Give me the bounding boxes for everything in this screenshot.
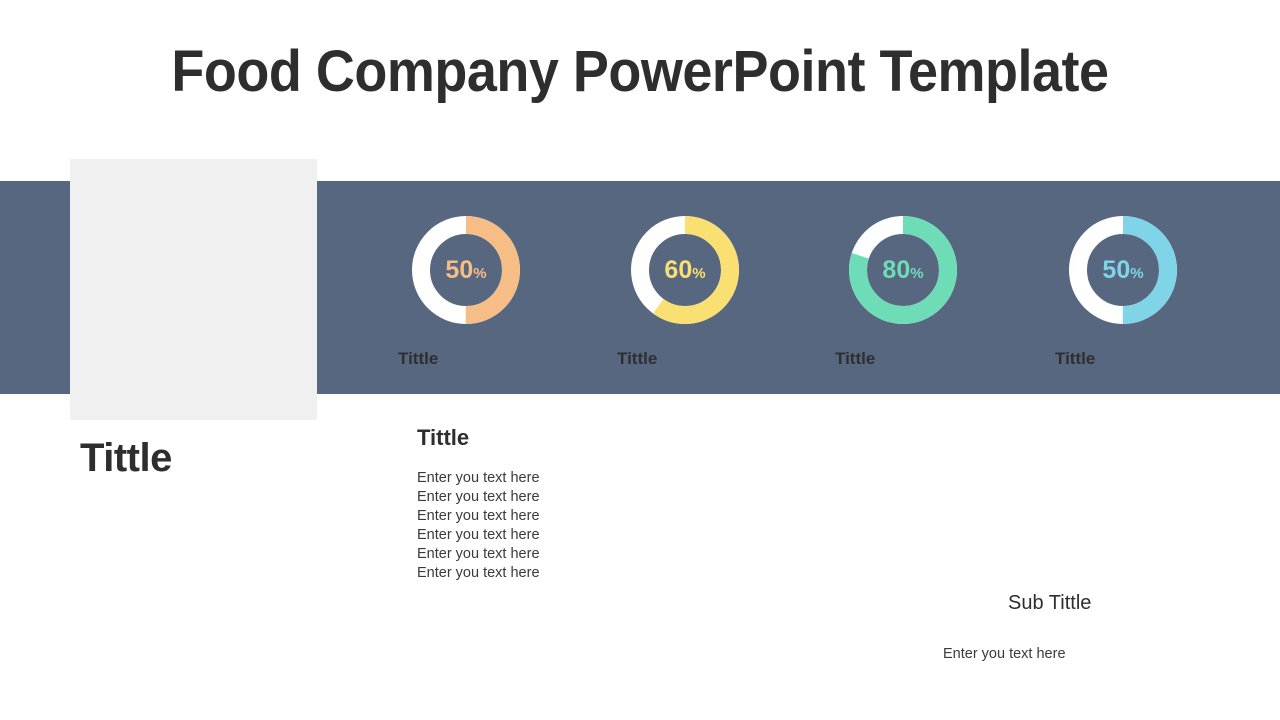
donut-hole xyxy=(430,234,502,306)
donut-hole xyxy=(1087,234,1159,306)
body-text-line: Enter you text here xyxy=(417,488,540,507)
sub-title-text: Enter you text here xyxy=(943,646,1066,662)
body-text-line: Enter you text here xyxy=(417,507,540,526)
body-section-title: Tittle xyxy=(417,425,469,451)
slide-canvas: Food Company PowerPoint Template Tittle … xyxy=(0,0,1280,720)
image-placeholder[interactable] xyxy=(70,159,317,420)
body-text-line: Enter you text here xyxy=(417,545,540,564)
donut-hole xyxy=(649,234,721,306)
sub-title: Sub Tittle xyxy=(1008,592,1091,615)
body-text-line: Enter you text here xyxy=(417,469,540,488)
donut-caption: Tittle xyxy=(398,349,438,369)
page-title: Food Company PowerPoint Template xyxy=(45,38,1235,105)
donut-caption: Tittle xyxy=(617,349,657,369)
body-text-list: Enter you text hereEnter you text hereEn… xyxy=(417,469,540,583)
donut-chart: 50% xyxy=(411,215,521,325)
donut-chart: 50% xyxy=(1068,215,1178,325)
donut-caption: Tittle xyxy=(1055,349,1095,369)
donut-chart: 80% xyxy=(848,215,958,325)
donut-chart: 60% xyxy=(630,215,740,325)
left-section-title: Tittle xyxy=(80,436,172,481)
donut-hole xyxy=(867,234,939,306)
donut-caption: Tittle xyxy=(835,349,875,369)
body-text-line: Enter you text here xyxy=(417,526,540,545)
body-text-line: Enter you text here xyxy=(417,564,540,583)
